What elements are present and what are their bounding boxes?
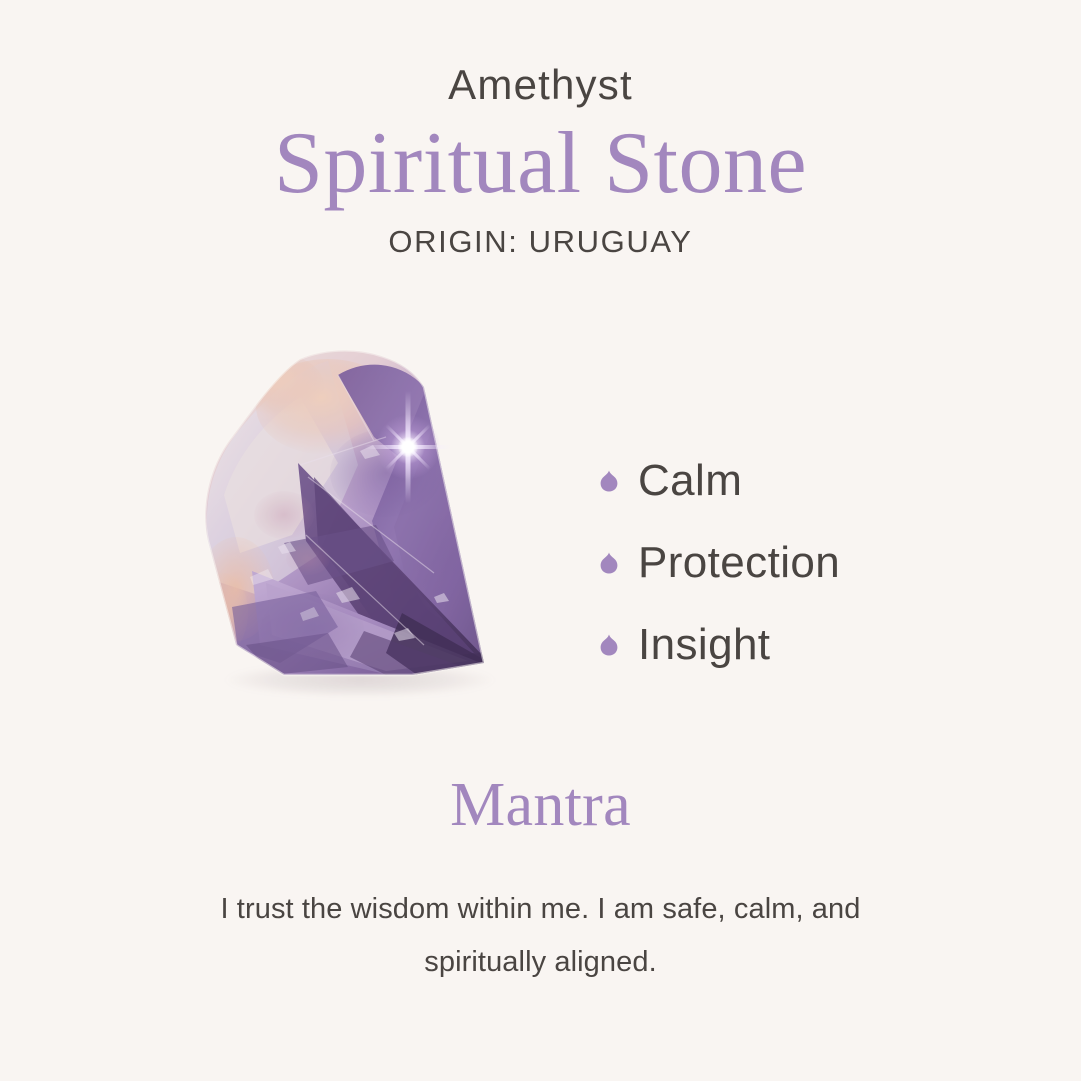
card-body: Calm Protection Insight (0, 345, 1081, 735)
mantra-section: Mantra I trust the wisdom within me. I a… (0, 770, 1081, 989)
property-label: Protection (638, 541, 840, 585)
crystal-illustration (188, 345, 528, 725)
list-item: Protection (600, 522, 1020, 604)
mantra-text: I trust the wisdom within me. I am safe,… (191, 883, 891, 989)
property-label: Insight (638, 623, 770, 667)
page-title: Spiritual Stone (0, 116, 1081, 211)
origin-label: ORIGIN: URUGUAY (0, 225, 1081, 259)
mantra-heading: Mantra (0, 770, 1081, 841)
list-item: Calm (600, 440, 1020, 522)
stone-name: Amethyst (0, 62, 1081, 108)
gem-bullet-icon (600, 631, 626, 659)
card-header: Amethyst Spiritual Stone ORIGIN: URUGUAY (0, 0, 1081, 259)
amethyst-info-card: Amethyst Spiritual Stone ORIGIN: URUGUAY (0, 0, 1081, 1081)
amethyst-crystal-icon (188, 345, 528, 690)
properties-list: Calm Protection Insight (600, 440, 1020, 686)
property-label: Calm (638, 459, 742, 503)
gem-bullet-icon (600, 467, 626, 495)
gem-bullet-icon (600, 549, 626, 577)
list-item: Insight (600, 604, 1020, 686)
